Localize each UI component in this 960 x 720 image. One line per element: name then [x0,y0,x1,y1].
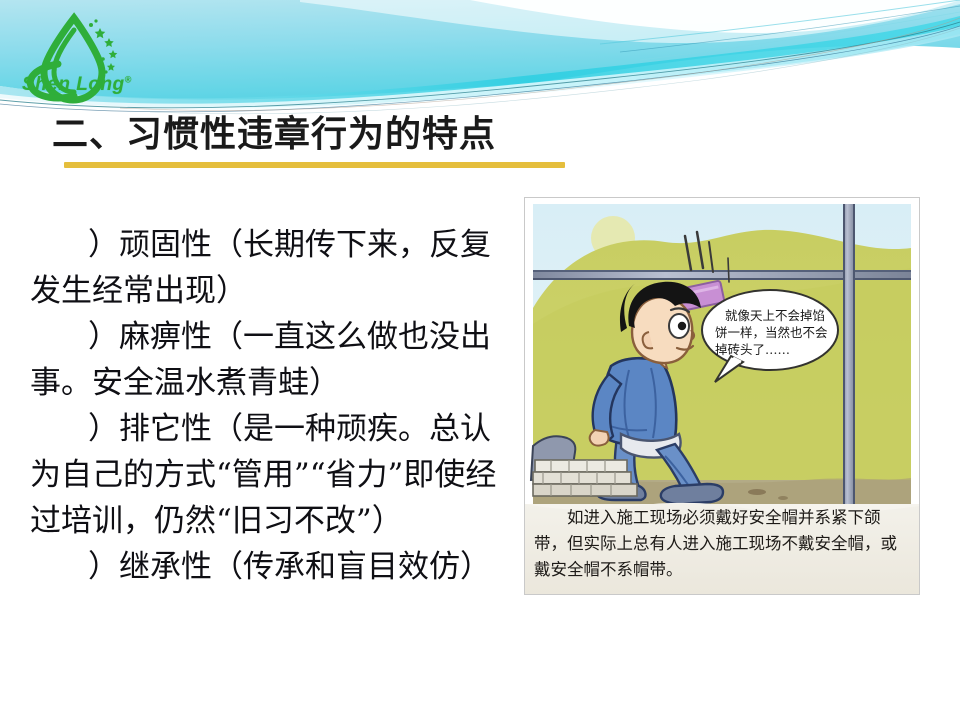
svg-text:就像天上不会掉馅: 就像天上不会掉馅 [725,308,825,323]
title-underline-rule [64,162,565,168]
body-paragraph-3: ）排它性（是一种顽疾。总认为自己的方式“管用”“省力”即使经过培训，仍然“旧习不… [30,406,512,544]
body-paragraph-1: ）顽固性（长期传下来，反复发生经常出现） [30,222,512,314]
page-title: 二、习惯性违章行为的特点 [52,113,496,157]
body-paragraph-4: ）继承性（传承和盲目效仿） [30,544,512,590]
logo-wordmark-text: Shen Long [22,74,125,95]
header-banner [0,0,960,118]
logo-wordmark: Shen Long® [22,74,132,96]
svg-text:掉砖头了……: 掉砖头了…… [715,342,790,357]
registered-mark: ® [125,75,132,85]
body-text-block: ）顽固性（长期传下来，反复发生经常出现） ）麻痹性（一直这么做也没出事。安全温水… [30,222,512,590]
slide: Shen Long® 二、习惯性违章行为的特点 ）顽固性（长期传下来，反复发生经… [0,0,960,720]
body-paragraph-2: ）麻痹性（一直这么做也没出事。安全温水煮青蛙） [30,314,512,406]
illustration-caption: 如进入施工现场必须戴好安全帽并系紧下颌带，但实际上总有人进入施工现场不戴安全帽，… [534,505,912,583]
svg-text:饼一样，当然也不会: 饼一样，当然也不会 [715,325,828,340]
